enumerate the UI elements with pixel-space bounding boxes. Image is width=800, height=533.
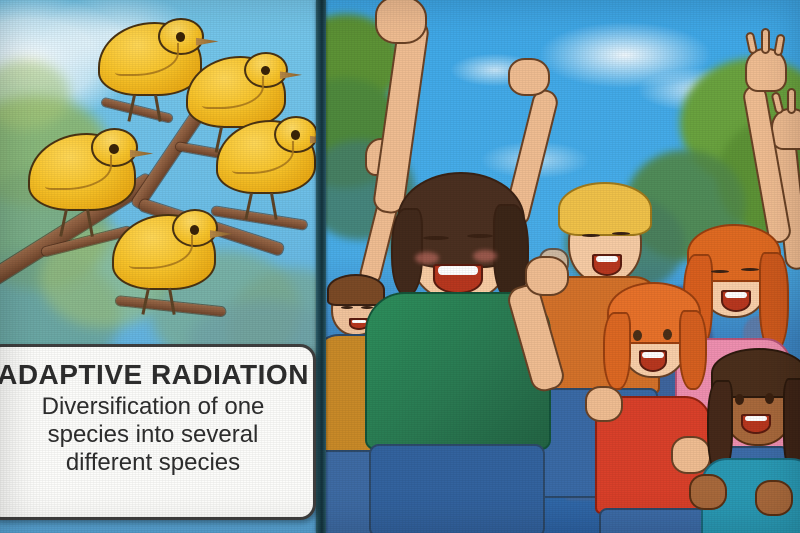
person-eye [612, 232, 630, 235]
yellow-bird-4 [216, 120, 316, 194]
raised-fist [689, 474, 727, 510]
person-mouth [721, 290, 751, 312]
teeth [438, 266, 478, 275]
person-mouth [433, 264, 483, 294]
right-panel-crowd [325, 0, 800, 533]
raised-fist [585, 386, 623, 422]
raised-fist [755, 480, 793, 516]
bird-eye [291, 130, 300, 140]
hand-finger [761, 28, 770, 54]
person-legs [369, 444, 545, 533]
label-description: Diversification of one species into seve… [13, 393, 293, 476]
teeth [745, 416, 768, 421]
raised-fist [525, 256, 569, 296]
person-legs [599, 508, 707, 533]
raised-fist [508, 58, 550, 96]
yellow-bird-5 [112, 214, 216, 290]
definition-label-card: ADAPTIVE RADIATION Diversification of on… [0, 344, 316, 520]
person-mouth [592, 254, 622, 276]
illustration-canvas: ADAPTIVE RADIATION Diversification of on… [0, 0, 800, 533]
person-mouth [741, 414, 771, 434]
person-mouth [639, 350, 667, 372]
teeth [642, 352, 663, 358]
person-hair-ginger-side [679, 310, 707, 390]
person-eye [633, 330, 642, 341]
label-title: ADAPTIVE RADIATION [0, 359, 309, 391]
person-center-green-shirt [361, 160, 581, 533]
person-hair-ginger-side [759, 252, 789, 352]
hand-finger [787, 88, 796, 114]
person-eye [663, 329, 672, 340]
person-eye [341, 306, 353, 309]
person-eye [582, 234, 600, 237]
person-hair-side [391, 208, 423, 296]
person-eye [711, 270, 729, 273]
bird-eye [190, 225, 199, 235]
yellow-bird-2 [186, 56, 286, 128]
bird-eye [109, 144, 119, 154]
person-eye [741, 268, 759, 271]
person-hair-ginger-side [603, 312, 631, 390]
yellow-bird-3 [28, 133, 136, 211]
teeth [725, 292, 748, 298]
person-cheek [473, 250, 497, 262]
raised-fist [375, 0, 427, 44]
person-eye [423, 236, 449, 240]
person-eye [467, 234, 493, 238]
person-eye [735, 394, 744, 405]
person-cheek [415, 252, 439, 264]
person-eye [765, 393, 774, 404]
panel-divider [316, 0, 326, 533]
teeth [596, 256, 619, 262]
person-dark-skin-teal-shirt [707, 354, 800, 533]
